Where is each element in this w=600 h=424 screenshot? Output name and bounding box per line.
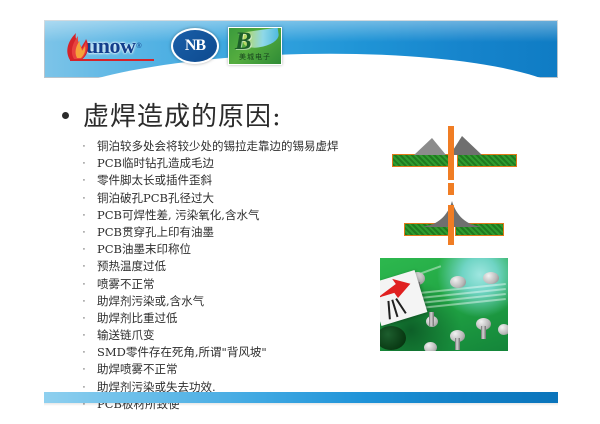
list-item: · 预热温度过低 xyxy=(80,258,380,275)
list-item-label: 零件脚太长或插件歪斜 xyxy=(97,172,212,189)
component-lead xyxy=(429,312,434,326)
flame-icon xyxy=(64,30,94,62)
solder-joint xyxy=(450,276,466,288)
bullet-marker-icon: · xyxy=(80,310,88,327)
solder-diagram-bridged xyxy=(392,126,518,180)
pcb-substrate-right xyxy=(457,154,517,167)
list-item-label: 输送链爪变 xyxy=(97,327,155,344)
bullet-marker-icon: · xyxy=(80,190,88,207)
solder-mound-left xyxy=(414,138,446,155)
pcb-photo xyxy=(380,258,508,351)
list-item: · 助焊剂比重过低 xyxy=(80,310,380,327)
list-item-label: PCB临时钻孔造成毛边 xyxy=(97,155,214,172)
list-item: · 输送链爪变 xyxy=(80,327,380,344)
list-item-label: 铜泊较多处会将较少处的锡拉走靠边的锡易虚焊 xyxy=(97,138,339,155)
list-item-label: SMD零件存在死角,所谓"背风坡" xyxy=(97,344,267,361)
bullet-marker-icon: · xyxy=(80,224,88,241)
bullet-marker-icon: · xyxy=(80,361,88,378)
list-item: · PCB贯穿孔上印有油墨 xyxy=(80,224,380,241)
list-item-label: PCB可焊性差, 污染氧化,含水气 xyxy=(97,207,259,224)
unow-logo: unow ® xyxy=(64,29,162,63)
pcb-photo-inner xyxy=(380,258,508,351)
component-lead xyxy=(481,326,486,339)
green-logo-mark: Β xyxy=(235,29,252,54)
list-item-label: 喷雾不正常 xyxy=(97,276,155,293)
page-title: 虚焊造成的原因: xyxy=(62,104,282,130)
bullet-marker-icon: · xyxy=(80,276,88,293)
list-item: · PCB临时钻孔造成毛边 xyxy=(80,155,380,172)
solder-diagram-peak xyxy=(392,183,518,245)
title-bullet-icon xyxy=(62,112,69,119)
component-lead-vertical xyxy=(448,126,454,180)
solder-joint xyxy=(498,324,508,335)
unow-underline xyxy=(70,59,154,61)
green-logo-chinese-text: 美城电子 xyxy=(229,52,281,62)
green-company-logo: Β 美城电子 xyxy=(228,27,282,65)
registered-mark: ® xyxy=(136,43,141,50)
component-lead-stub xyxy=(448,183,454,195)
bullet-marker-icon: · xyxy=(80,138,88,155)
list-item: · PCB油墨末印称位 xyxy=(80,241,380,258)
list-item: · 助焊剂污染或,含水气 xyxy=(80,293,380,310)
logo-row: unow ® NB Β 美城电子 xyxy=(64,27,282,65)
pcb-substrate-left xyxy=(392,154,450,167)
list-item-label: PCB贯穿孔上印有油墨 xyxy=(97,224,214,241)
bullet-marker-icon: · xyxy=(80,293,88,310)
list-item-label: PCB油墨末印称位 xyxy=(97,241,191,258)
component-lead-vertical xyxy=(448,205,454,245)
list-item-label: 助焊剂比重过低 xyxy=(97,310,178,327)
footer-bar xyxy=(44,392,558,403)
bullet-marker-icon: · xyxy=(80,258,88,275)
list-item-label: 助焊剂污染或,含水气 xyxy=(97,293,204,310)
bullet-marker-icon: · xyxy=(80,327,88,344)
nb-monogram: NB xyxy=(185,37,205,55)
slide-canvas: unow ® NB Β 美城电子 虚焊造成的原因: · 铜泊较多处会将较少处的锡… xyxy=(0,0,600,424)
solder-joint xyxy=(483,272,499,284)
header-banner: unow ® NB Β 美城电子 xyxy=(44,20,558,78)
component-lead xyxy=(455,338,460,350)
list-item: · 喷雾不正常 xyxy=(80,276,380,293)
footer-shadow xyxy=(44,403,558,406)
bullet-marker-icon: · xyxy=(80,241,88,258)
list-item-label: 助焊喷雾不正常 xyxy=(97,361,178,378)
flame-icon-svg xyxy=(64,30,94,62)
list-item: · 助焊喷雾不正常 xyxy=(80,361,380,378)
nb-logo: NB xyxy=(171,28,219,64)
bullet-marker-icon: · xyxy=(80,172,88,189)
list-item-label: 预热温度过低 xyxy=(97,258,166,275)
cause-bullet-list: · 铜泊较多处会将较少处的锡拉走靠边的锡易虚焊 · PCB临时钻孔造成毛边 · … xyxy=(80,138,380,413)
list-item-label: 铜泊破孔PCB孔径过大 xyxy=(97,190,214,207)
bullet-marker-icon: · xyxy=(80,155,88,172)
list-item: · 铜泊破孔PCB孔径过大 xyxy=(80,190,380,207)
bullet-marker-icon: · xyxy=(80,344,88,361)
bullet-marker-icon: · xyxy=(80,207,88,224)
list-item: · SMD零件存在死角,所谓"背风坡" xyxy=(80,344,380,361)
list-item: · 零件脚太长或插件歪斜 xyxy=(80,172,380,189)
list-item: · 铜泊较多处会将较少处的锡拉走靠边的锡易虚焊 xyxy=(80,138,380,155)
list-item: · PCB可焊性差, 污染氧化,含水气 xyxy=(80,207,380,224)
title-text: 虚焊造成的原因: xyxy=(83,104,282,130)
solder-mound-right xyxy=(450,136,482,155)
solder-joint xyxy=(424,342,437,351)
